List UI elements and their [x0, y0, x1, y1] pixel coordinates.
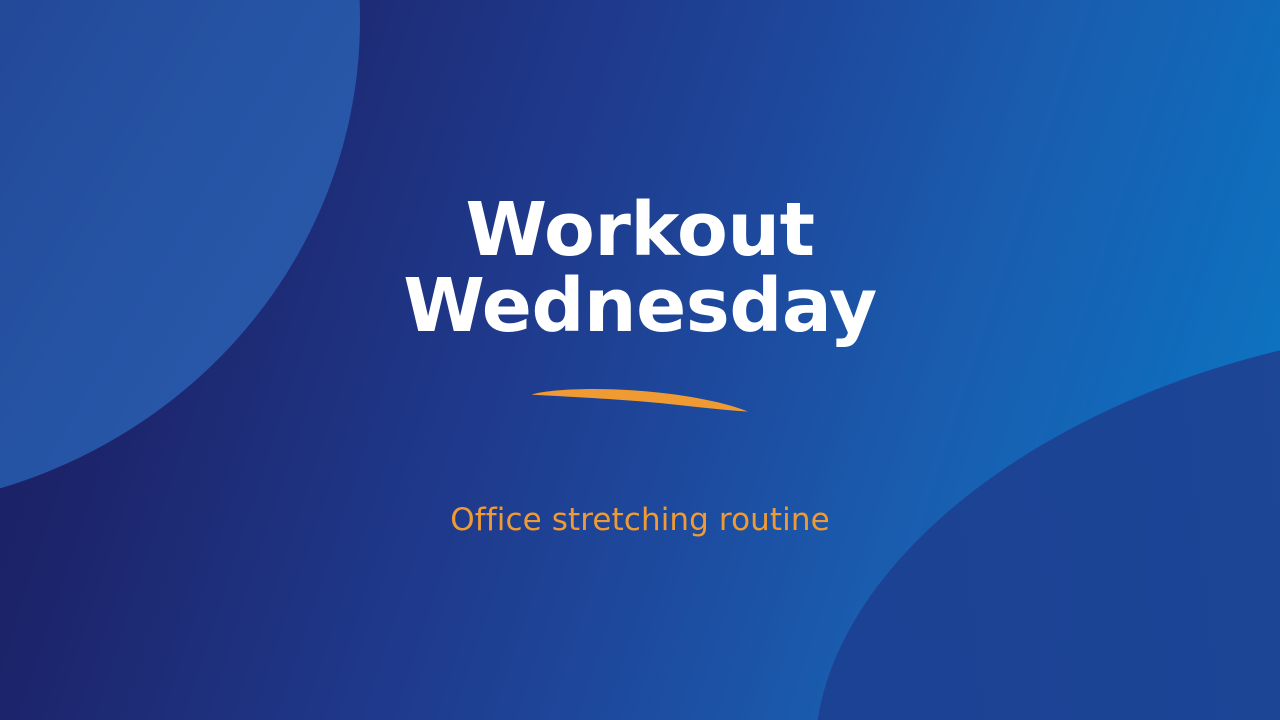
slide-subtitle: Office stretching routine [0, 502, 1280, 538]
slide-title: Workout Wednesday [0, 192, 1280, 344]
presentation-slide: Workout Wednesday Office stretching rout… [0, 0, 1280, 720]
swoosh-divider-icon [529, 386, 751, 416]
slide-content: Workout Wednesday Office stretching rout… [0, 0, 1280, 720]
title-divider [0, 386, 1280, 416]
